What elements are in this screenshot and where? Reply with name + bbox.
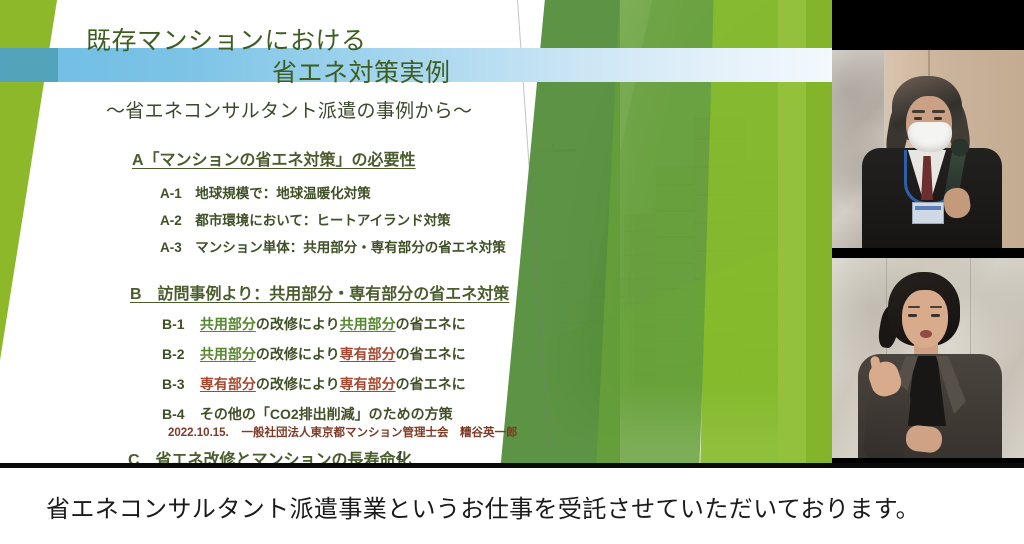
speaker-eyebrow-right [932, 110, 945, 113]
section-b-term: 共用部分 [200, 316, 256, 332]
interpreter-mouth [920, 330, 932, 338]
section-b-item-label: B-2 [162, 346, 196, 362]
section-b-item-label: B-1 [162, 316, 196, 332]
interpreter-eye-left [908, 314, 917, 317]
section-b-term: 共用部分 [340, 316, 396, 332]
video-panel-column [832, 0, 1024, 466]
speaker-video-panel[interactable] [832, 0, 1024, 248]
section-b-post: の省エネに [396, 316, 466, 332]
section-a-item: A-3 マンション単体：共用部分・専有部分の省エネ対策 [160, 236, 560, 256]
footer-date: 2022.10.15. [168, 427, 229, 439]
caption-text: 省エネコンサルタント派遣事業というお仕事を受託させていただいております。 [46, 489, 920, 524]
slide-page-number: 1 [0, 448, 800, 463]
slide-title-line1: 既存マンションにおける [86, 26, 560, 56]
speaker-eye-left [914, 117, 922, 120]
section-b-mid: の改修により [256, 316, 340, 332]
speaker-name-badge [912, 202, 944, 224]
interpreter-video-frame [832, 258, 1024, 458]
interpreter-resting-hand [905, 424, 944, 454]
interpreter-eyebrow-right [930, 306, 942, 308]
speaker-eye-right [934, 117, 942, 120]
section-b-mid: の改修により [256, 346, 340, 362]
section-b-term: 専有部分 [340, 376, 396, 392]
section-b-post: の省エネに [396, 346, 466, 362]
presentation-slide: 既存マンションにおける 省エネ対策実例 ～省エネコンサルタント派遣の事例から～ … [0, 0, 832, 466]
section-b-heading: B 訪問事例より：共用部分・専有部分の省エネ対策 [130, 280, 560, 304]
interpreter-face [902, 290, 948, 348]
section-b-post: の省エネに [396, 376, 466, 392]
slide-body: A「マンションの省エネ対策」の必要性 A-1 地球規模で：地球温暖化対策 A-2… [0, 146, 560, 466]
interpreter-video-panel[interactable] [832, 248, 1024, 466]
section-b-item: B-3 専有部分の改修により専有部分の省エネに [162, 374, 560, 394]
interpreter-eye-right [931, 314, 940, 317]
section-b-mid: の改修により [256, 376, 340, 392]
screen: 既存マンションにおける 省エネ対策実例 ～省エネコンサルタント派遣の事例から～ … [0, 0, 1024, 544]
section-b-item-label: B-4 [162, 406, 196, 422]
slide-title-block: 既存マンションにおける 省エネ対策実例 ～省エネコンサルタント派遣の事例から～ [0, 26, 560, 123]
speaker-video-frame [832, 50, 1024, 248]
section-b-term: 専有部分 [340, 346, 396, 362]
section-a-item: A-1 地球規模で：地球温暖化対策 [160, 182, 560, 202]
speaker-eyebrow-left [912, 110, 925, 113]
caption-bar: 省エネコンサルタント派遣事業というお仕事を受託させていただいております。 [0, 468, 1024, 544]
section-b-item-label: B-3 [162, 376, 196, 392]
section-b-item: B-1 共用部分の改修により共用部分の省エネに [162, 314, 560, 334]
interpreter-eyebrow-left [908, 306, 920, 308]
section-b-item: B-2 共用部分の改修により専有部分の省エネに [162, 344, 560, 364]
speaker-face-mask [908, 122, 952, 152]
slide-footer-credit: 2022.10.15. 一般社団法人東京都マンション管理士会 糟谷英一郎 [168, 424, 728, 440]
slide-subtitle: ～省エネコンサルタント派遣の事例から～ [106, 96, 560, 123]
section-b-term: 専有部分 [200, 376, 256, 392]
section-a-heading: A「マンションの省エネ対策」の必要性 [132, 146, 560, 170]
section-b-term: 共用部分 [200, 346, 256, 362]
section-b-item-text: その他の「CO2排出削減」のための方策 [200, 406, 453, 422]
section-b-item: B-4 その他の「CO2排出削減」のための方策 [162, 404, 560, 424]
footer-organization: 一般社団法人東京都マンション管理士会 糟谷英一郎 [242, 427, 518, 439]
section-a-item: A-2 都市環境において：ヒートアイランド対策 [160, 209, 560, 229]
slide-title-line2: 省エネ対策実例 [272, 56, 560, 90]
